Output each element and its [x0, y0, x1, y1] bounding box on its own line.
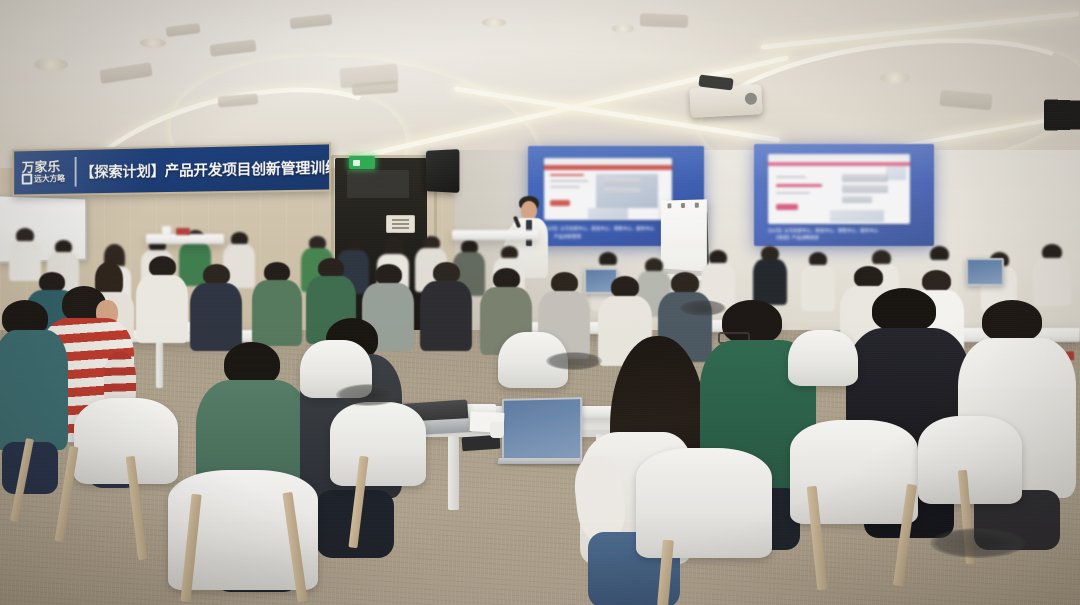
chair-mid-left[interactable] [74, 398, 178, 484]
hair [318, 258, 344, 278]
square-logo-icon [22, 174, 33, 185]
slide-red-navbar [544, 165, 672, 170]
slide-topbar [544, 158, 672, 164]
slide-content-block-3 [842, 196, 872, 203]
ceiling-downlight-4 [612, 24, 634, 33]
body [190, 283, 242, 351]
laptop-foreground[interactable] [502, 397, 582, 463]
slide-text-line-1 [776, 176, 806, 178]
body [0, 330, 68, 450]
chair-mid-left-2[interactable] [330, 402, 426, 486]
company-logo: 万家乐 远大方略 [14, 160, 71, 185]
right-projection-screen: 【公司】公司总部中心、研发中心、销售中心、服务中心 【规划】产品战略规划 [754, 144, 934, 246]
slide-content-block-1 [842, 174, 888, 182]
wall-speaker-icon [426, 149, 459, 193]
flipchart-clip-1 [668, 203, 672, 208]
body [252, 280, 302, 346]
laptop-foreground-keyboard[interactable] [497, 458, 582, 464]
slide-text-line-2 [776, 184, 822, 187]
event-banner: 万家乐 远大方略 【探索计划】产品开发项目创新管理训练营 主办协办 [12, 142, 331, 196]
projector-lens-icon [745, 92, 758, 105]
chair-back-right[interactable] [788, 330, 858, 386]
right-slide-caption-1: 【公司】公司总部中心、研发中心、销售中心、服务中心 [766, 228, 878, 235]
left-slide-card [544, 158, 672, 220]
logo-main-text: 万家乐 [22, 160, 65, 174]
hair [611, 276, 639, 298]
left-slide-caption-1: 【公司】公司总部中心、研发中心、销售中心、服务中心 [542, 226, 654, 233]
chair-mid-right[interactable] [918, 416, 1022, 504]
back-desk-item [176, 228, 190, 235]
banner-title: 【探索计划】产品开发项目创新管理训练营 [80, 156, 331, 182]
attendee-mid-3 [136, 256, 188, 342]
emergency-exit-sign-icon [349, 156, 375, 169]
banner-divider [75, 157, 77, 187]
flipchart-clip-2 [681, 203, 685, 208]
classroom-photo: 万家乐 远大方略 【探索计划】产品开发项目创新管理训练营 主办协办 【公司】公司… [0, 0, 1080, 605]
chair-foreground-center[interactable] [636, 448, 772, 558]
attendee-back-21 [1032, 244, 1072, 306]
chair-base-1 [336, 384, 400, 406]
corner-wall-monitor [1044, 99, 1080, 131]
attendee-mid-8 [420, 262, 472, 350]
slide-text-line-1 [550, 174, 584, 176]
mid-desk-leg-1 [156, 342, 163, 388]
logo-sub-text: 远大方略 [34, 174, 65, 183]
attendee-dark-left [0, 300, 72, 490]
slide-footer-graphic [830, 210, 884, 222]
wall-control-panel[interactable] [386, 215, 415, 233]
hair [872, 288, 936, 332]
hair [671, 272, 699, 294]
slide-decor-graphic [886, 166, 906, 180]
flipchart-clip-3 [695, 203, 699, 208]
body [136, 275, 188, 343]
foreground-desk-leg-1 [448, 436, 459, 510]
slide-content-block-2 [842, 185, 888, 193]
slide-footer-graphic [588, 208, 628, 219]
body [753, 259, 787, 305]
right-slide-card [768, 154, 910, 224]
body [420, 281, 472, 351]
back-desk-1 [146, 234, 224, 244]
slide-cta-button [550, 200, 570, 206]
ceiling-downlight-2 [140, 38, 166, 48]
slide-text-line-2 [550, 180, 588, 182]
ceiling-vent-8 [640, 13, 688, 28]
hair [493, 268, 520, 289]
attendee-mid-4 [190, 264, 242, 350]
slide-text-line-3 [550, 186, 580, 188]
slide-text-line-3 [776, 192, 810, 194]
hair [203, 264, 230, 285]
slide-content-block-2 [604, 188, 640, 194]
slide-topbar [768, 154, 910, 160]
body [1033, 258, 1071, 306]
ceiling-projector [689, 84, 762, 118]
chair-base-3 [930, 528, 1026, 558]
laptop-back-right [966, 258, 1004, 286]
hair [264, 262, 290, 282]
ceiling-downlight-1 [34, 58, 68, 71]
chair-base-4 [680, 300, 726, 316]
right-slide-caption-2: 【规划】产品战略规划 [774, 235, 819, 242]
back-desk-2 [452, 230, 538, 240]
slide-cta-button [776, 204, 798, 210]
hair [854, 266, 883, 288]
cup-on-desk [490, 422, 504, 438]
back-desk-cup [162, 226, 171, 236]
hair [149, 256, 176, 277]
chair-base-2 [546, 352, 602, 370]
hair [982, 300, 1042, 342]
door-glass-panel [347, 170, 409, 198]
logo-sub-row: 远大方略 [22, 173, 65, 185]
hair [433, 262, 460, 283]
slide-content-block-1 [604, 178, 640, 185]
hair [551, 272, 578, 293]
left-slide-caption-2: 产品创新管理 [554, 234, 581, 241]
attendee-back-16 [752, 246, 788, 304]
attendee-mid-5 [252, 262, 302, 346]
ceiling-downlight-5 [880, 72, 910, 84]
ceiling-downlight-3 [482, 18, 506, 27]
hair [375, 264, 402, 285]
